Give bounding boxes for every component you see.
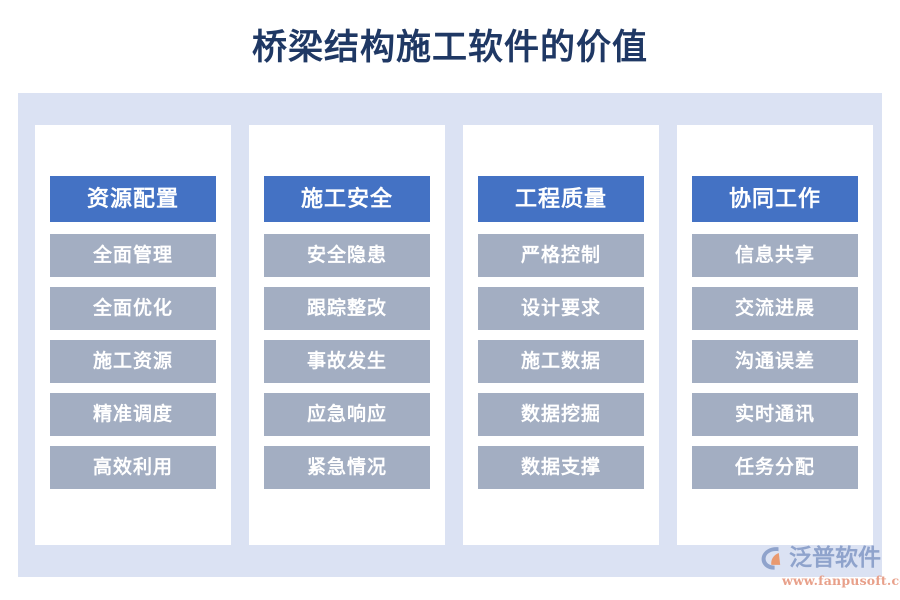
column-1-item-3[interactable]: 施工资源 xyxy=(50,340,216,383)
column-4-item-3[interactable]: 沟通误差 xyxy=(692,340,858,383)
column-header-3[interactable]: 工程质量 xyxy=(478,176,644,222)
column-card-4: 协同工作 信息共享 交流进展 沟通误差 实时通讯 任务分配 xyxy=(677,125,873,545)
column-1-item-2[interactable]: 全面优化 xyxy=(50,287,216,330)
column-4-item-5[interactable]: 任务分配 xyxy=(692,446,858,489)
column-1-item-1[interactable]: 全面管理 xyxy=(50,234,216,277)
brand-url: www.fanpusoft.com xyxy=(782,573,900,588)
brand-row: 泛普软件 xyxy=(758,543,881,573)
column-2-item-4[interactable]: 应急响应 xyxy=(264,393,430,436)
column-3-item-4[interactable]: 数据挖掘 xyxy=(478,393,644,436)
column-3-item-2[interactable]: 设计要求 xyxy=(478,287,644,330)
column-4-item-2[interactable]: 交流进展 xyxy=(692,287,858,330)
columns-container: 资源配置 全面管理 全面优化 施工资源 精准调度 高效利用 施工安全 安全隐患 … xyxy=(35,125,873,545)
column-4-item-1[interactable]: 信息共享 xyxy=(692,234,858,277)
column-2-item-1[interactable]: 安全隐患 xyxy=(264,234,430,277)
column-2-item-5[interactable]: 紧急情况 xyxy=(264,446,430,489)
column-card-1: 资源配置 全面管理 全面优化 施工资源 精准调度 高效利用 xyxy=(35,125,231,545)
column-2-item-2[interactable]: 跟踪整改 xyxy=(264,287,430,330)
infographic-page: 桥梁结构施工软件的价值 资源配置 全面管理 全面优化 施工资源 精准调度 高效利… xyxy=(0,0,900,600)
column-3-item-1[interactable]: 严格控制 xyxy=(478,234,644,277)
column-card-2: 施工安全 安全隐患 跟踪整改 事故发生 应急响应 紧急情况 xyxy=(249,125,445,545)
fanpu-logo-icon xyxy=(758,544,786,572)
column-2-item-3[interactable]: 事故发生 xyxy=(264,340,430,383)
column-header-2[interactable]: 施工安全 xyxy=(264,176,430,222)
column-1-item-4[interactable]: 精准调度 xyxy=(50,393,216,436)
column-1-item-5[interactable]: 高效利用 xyxy=(50,446,216,489)
column-header-4[interactable]: 协同工作 xyxy=(692,176,858,222)
column-header-1[interactable]: 资源配置 xyxy=(50,176,216,222)
brand-watermark: 泛普软件 www.fanpusoft.com xyxy=(758,543,894,589)
column-3-item-3[interactable]: 施工数据 xyxy=(478,340,644,383)
column-card-3: 工程质量 严格控制 设计要求 施工数据 数据挖掘 数据支撑 xyxy=(463,125,659,545)
column-4-item-4[interactable]: 实时通讯 xyxy=(692,393,858,436)
column-3-item-5[interactable]: 数据支撑 xyxy=(478,446,644,489)
brand-name: 泛普软件 xyxy=(789,544,881,572)
page-title: 桥梁结构施工软件的价值 xyxy=(0,26,900,70)
